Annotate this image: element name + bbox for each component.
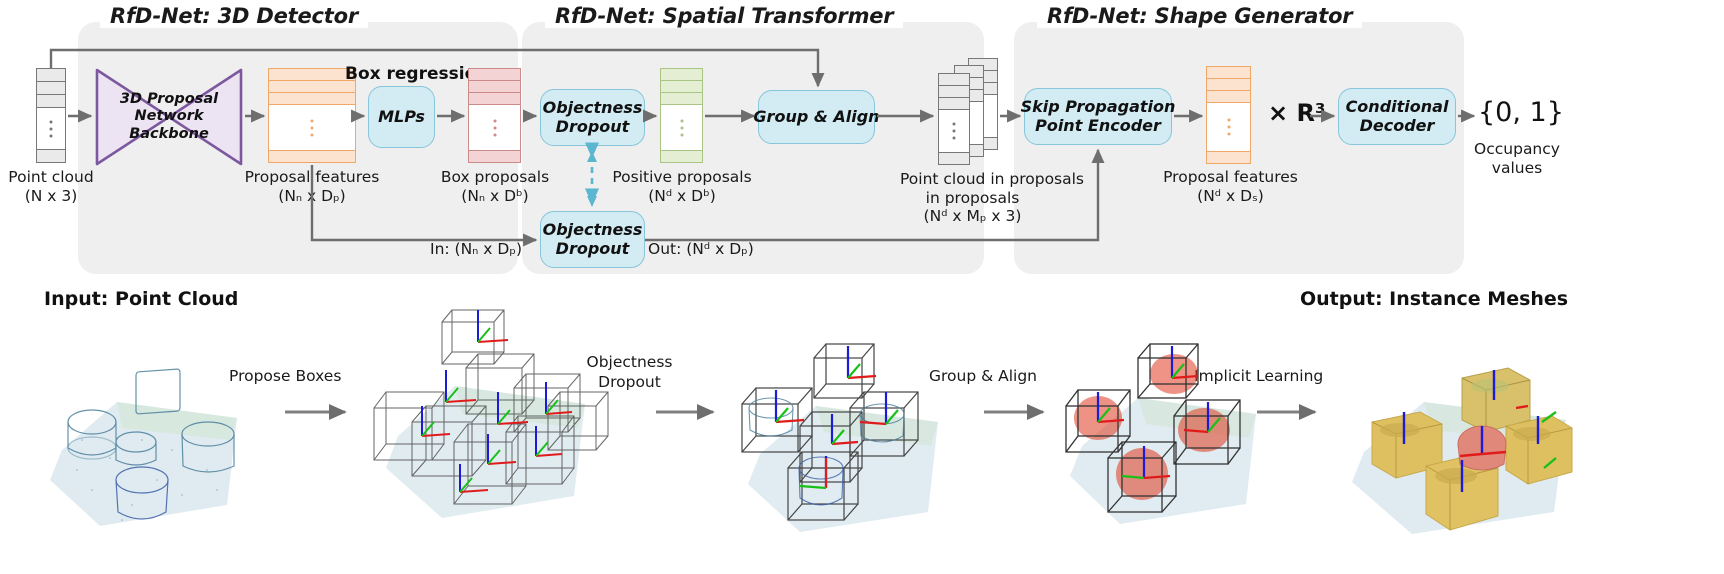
scene-instance-meshes [1316,326,1596,554]
r3-label: × R³ [1268,99,1325,127]
dropout-bot-line1: Objectness [543,221,643,240]
cond-dec-line2: Decoder [1360,117,1435,136]
bottom-output-title: Output: Instance Meshes [1300,288,1568,310]
dropout-top-line2: Dropout [556,118,630,137]
tensor-name-box-proposals: Box proposals [441,168,549,186]
tensor-box-proposals [468,68,521,163]
ellipsis-icon [953,123,956,140]
ellipsis-icon [311,119,314,136]
annotation-r3: × R³ [1268,99,1325,127]
ellipsis-icon [493,119,496,136]
tensor-shape-positive-proposals: (Nᵈ x Dᵇ) [648,187,716,205]
module-objectness-dropout-bottom[interactable]: Objectness Dropout [540,211,645,268]
output-occupancy-set: {0, 1} [1478,97,1564,128]
stage-title-detector: RfD-Net: 3D Detector [100,4,368,28]
tensor-name-positive-proposals: Positive proposals [612,168,751,186]
output-occupancy-caption: Occupancy values [1452,140,1582,177]
tensor-name-point-cloud: Point cloud [8,168,93,186]
tensor-name-pc-in-proposals: Point cloud in proposals [900,170,1084,188]
tensor-positive-proposals [660,68,703,163]
cond-dec-line1: Conditional [1346,98,1449,117]
tensor-shape-proposal-features-shape: (Nᵈ x Dₛ) [1197,187,1264,205]
module-backbone[interactable]: 3D Proposal Network Backbone [95,68,243,166]
tensor-proposal-features [268,68,356,163]
tensor-label-point-cloud: Point cloud (N x 3) [0,168,116,207]
module-objectness-dropout-top[interactable]: Objectness Dropout [540,89,645,146]
tensor-sub-pc-in-proposals: in proposals [926,189,1020,207]
occupancy-line2: values [1492,159,1542,177]
scene-group-align [1046,326,1276,552]
module-conditional-decoder[interactable]: Conditional Decoder [1338,88,1456,145]
backbone-shape [95,68,243,166]
tensor-point-cloud [36,68,66,163]
group-align-label: Group & Align [753,108,879,127]
module-mlps[interactable]: MLPs [368,86,435,148]
stage-title-spatial: RfD-Net: Spatial Transformer [545,4,903,28]
tensor-name-proposal-features-shape: Proposal features [1163,168,1298,186]
module-group-align[interactable]: Group & Align [758,90,875,144]
tensor-shape-proposal-features: (Nₙ x Dₚ) [278,187,345,205]
module-skip-propagation-encoder[interactable]: Skip Propagation Point Encoder [1024,88,1172,145]
tensor-name-proposal-features: Proposal features [245,168,380,186]
annotation-dropout-out: Out: (Nᵈ x Dₚ) [648,240,778,259]
tensor-pc-slice-front [938,73,970,165]
ellipsis-icon [1227,119,1230,136]
tensor-proposal-features-shape [1206,66,1251,164]
tensor-shape-box-proposals: (Nₙ x Dᵇ) [461,187,528,205]
tensor-label-pc-in-proposals: Point cloud in proposals in proposals (N… [900,170,1045,226]
stage-title-generator: RfD-Net: Shape Generator [1037,4,1362,28]
tensor-pc-in-proposals [936,58,1022,168]
ellipsis-icon [50,120,53,137]
skip-enc-line2: Point Encoder [1035,117,1161,136]
scene-input-point-cloud [22,330,272,550]
tensor-shape-point-cloud: (N x 3) [25,187,78,205]
figure-root: RfD-Net: 3D Detector RfD-Net: Spatial Tr… [0,0,1724,574]
module-mlps-label: MLPs [378,108,425,127]
annotation-box-regression: Box regression [345,64,488,84]
tensor-shape-pc-in-proposals: (Nᵈ x Mₚ x 3) [924,207,1022,225]
dropout-bot-line2: Dropout [556,240,630,259]
tensor-label-proposal-features-shape: Proposal features (Nᵈ x Dₛ) [1148,168,1313,207]
ellipsis-icon [680,119,683,136]
scene-objectness-dropout [716,326,966,556]
scene-proposed-boxes [350,296,640,556]
bottom-input-title: Input: Point Cloud [44,288,238,310]
tensor-label-proposal-features: Proposal features (Nₙ x Dₚ) [227,168,397,207]
tensor-label-box-proposals: Box proposals (Nₙ x Dᵇ) [430,168,560,207]
dropout-top-line1: Objectness [543,99,643,118]
skip-enc-line1: Skip Propagation [1021,98,1176,117]
tensor-label-positive-proposals: Positive proposals (Nᵈ x Dᵇ) [607,168,757,207]
occupancy-line1: Occupancy [1474,140,1560,158]
annotation-dropout-in: In: (Nₙ x Dₚ) [430,240,545,259]
